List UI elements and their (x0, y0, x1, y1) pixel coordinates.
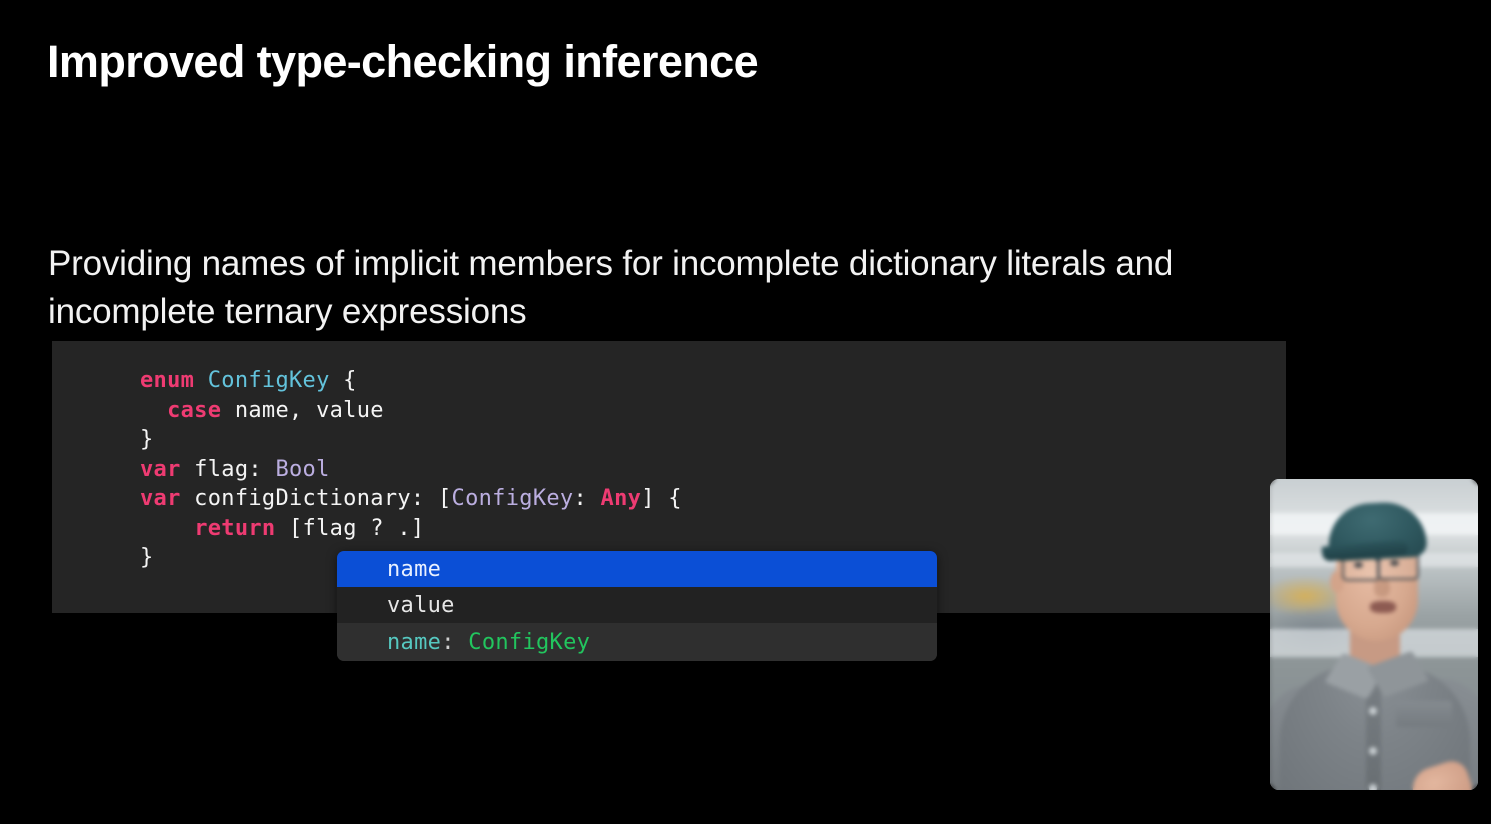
code-line: var configDictionary: [ConfigKey: Any] { (140, 484, 1286, 514)
presenter-glasses-bridge (1375, 559, 1381, 561)
presenter-shirt-button (1369, 747, 1377, 755)
autocomplete-detail-row[interactable]: name: ConfigKey (337, 623, 937, 661)
code-token (194, 368, 208, 393)
autocomplete-item-label: value (387, 593, 455, 618)
code-token: name, value (221, 398, 384, 423)
code-token: ConfigKey (208, 368, 330, 393)
code-line: var flag: Bool (140, 455, 1286, 485)
presenter-shirt-button (1369, 707, 1377, 715)
code-token: [flag ? .] (275, 516, 424, 541)
code-token (140, 516, 194, 541)
code-token: } (140, 427, 154, 452)
code-line: case name, value (140, 396, 1286, 426)
page-title: Improved type-checking inference (47, 32, 758, 92)
code-line: return [flag ? .] (140, 514, 1286, 544)
code-token: case (167, 398, 221, 423)
code-token: { (330, 368, 357, 393)
autocomplete-detail-name: name (387, 630, 441, 655)
code-token: Bool (275, 457, 329, 482)
code-lines: enum ConfigKey { case name, value}var fl… (140, 366, 1286, 573)
code-line: enum ConfigKey { (140, 366, 1286, 396)
code-token: ] { (641, 486, 682, 511)
autocomplete-item-label: name (387, 557, 441, 582)
code-token: ConfigKey (452, 486, 574, 511)
slide-subtitle: Providing names of implicit members for … (48, 240, 1338, 336)
code-line: } (140, 425, 1286, 455)
code-token: var (140, 457, 181, 482)
code-token: : (573, 486, 600, 511)
code-token: var (140, 486, 181, 511)
presentation-slide: Improved type-checking inference Providi… (0, 0, 1491, 824)
autocomplete-detail-separator: : (441, 630, 468, 655)
autocomplete-detail-type: ConfigKey (468, 630, 590, 655)
autocomplete-item[interactable]: name (337, 551, 937, 587)
code-token: } (140, 545, 154, 570)
presenter-mouth (1370, 601, 1396, 613)
autocomplete-item[interactable]: value (337, 587, 937, 623)
code-token: configDictionary: [ (181, 486, 452, 511)
code-token: flag: (181, 457, 276, 482)
code-token (140, 398, 167, 423)
presenter-shirt-button (1369, 784, 1377, 790)
presenter-shirt-pocket (1396, 701, 1452, 727)
autocomplete-rows: namevaluename: ConfigKey (337, 551, 937, 661)
code-token: enum (140, 368, 194, 393)
code-token: return (194, 516, 275, 541)
presenter-video[interactable] (1270, 479, 1478, 790)
code-token: Any (601, 486, 642, 511)
autocomplete-popup[interactable]: namevaluename: ConfigKey (337, 551, 937, 661)
